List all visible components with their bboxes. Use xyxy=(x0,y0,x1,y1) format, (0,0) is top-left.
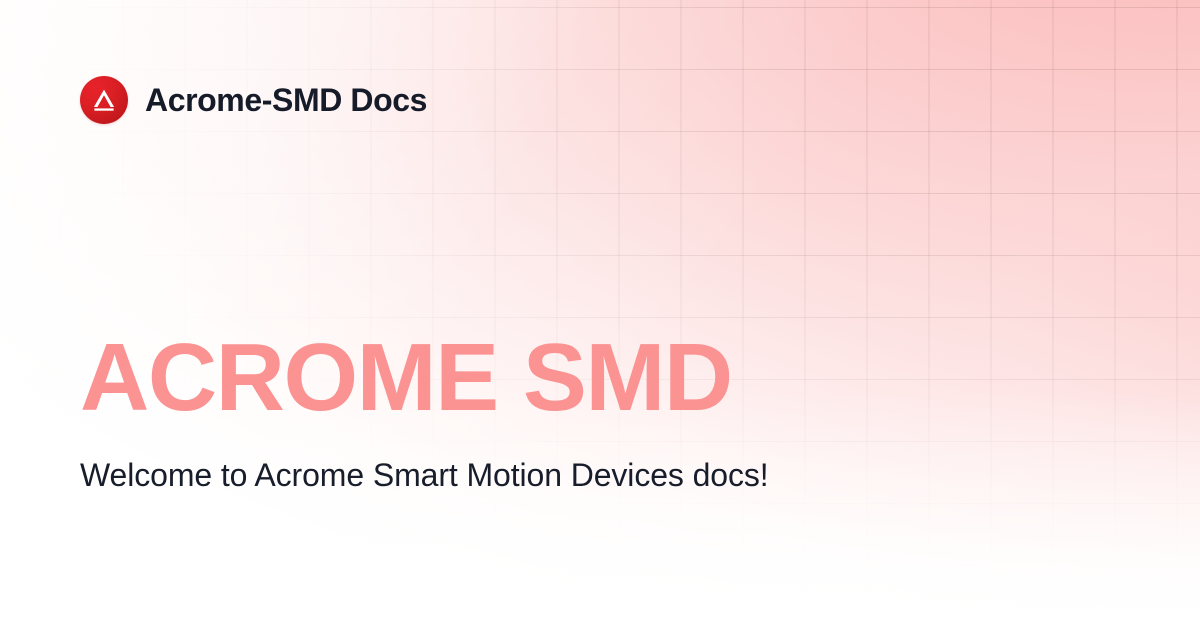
hero-section: ACROME SMD Welcome to Acrome Smart Motio… xyxy=(80,330,1120,498)
page-subtitle: Welcome to Acrome Smart Motion Devices d… xyxy=(80,454,840,498)
card-content: Acrome-SMD Docs ACROME SMD Welcome to Ac… xyxy=(0,0,1200,630)
brand-title: Acrome-SMD Docs xyxy=(145,84,427,116)
brand-header[interactable]: Acrome-SMD Docs xyxy=(80,76,427,124)
acrome-triangle-logo-icon xyxy=(80,76,128,124)
og-card: Acrome-SMD Docs ACROME SMD Welcome to Ac… xyxy=(0,0,1200,630)
page-title: ACROME SMD xyxy=(80,330,1120,426)
